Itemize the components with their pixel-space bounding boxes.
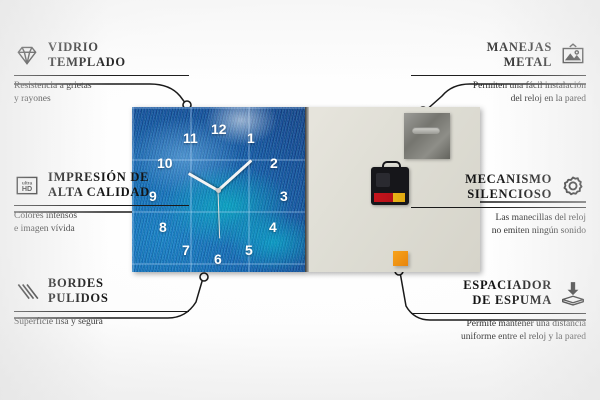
feature-divider: [411, 75, 586, 76]
feature-title: BORDESPULIDOS: [48, 276, 108, 306]
feature-divider: [14, 205, 189, 206]
feature-description: Colores intensose imagen vívida: [14, 210, 189, 236]
clock-numeral-4: 4: [269, 220, 277, 234]
clock-numeral-5: 5: [245, 243, 253, 257]
clock-numeral-10: 10: [157, 156, 173, 170]
clock-numeral-1: 1: [247, 131, 255, 145]
clock-numeral-2: 2: [270, 156, 278, 170]
feature-manejas-metal: MANEJASMETAL Permiten una fácil instalac…: [411, 40, 586, 106]
feature-description: Las manecillas del relojno emiten ningún…: [411, 212, 586, 238]
clock-numeral-3: 3: [280, 189, 288, 203]
mechanism-hook: [382, 161, 401, 171]
feature-espaciador-espuma: ESPACIADORDE ESPUMA Permite mantener una…: [411, 278, 586, 344]
hanger-slot: [412, 127, 440, 134]
feature-title: ESPACIADORDE ESPUMA: [463, 278, 552, 308]
feature-divider: [14, 75, 189, 76]
feature-title: VIDRIOTEMPLADO: [48, 40, 126, 70]
feature-bordes-pulidos: BORDESPULIDOS Superficie lisa y segura: [14, 276, 189, 329]
mechanism-label: [374, 193, 405, 202]
feature-description: Resistencia a grietasy rayones: [14, 80, 189, 106]
clock-numeral-11: 11: [183, 131, 198, 145]
feature-divider: [411, 313, 586, 314]
feature-divider: [411, 207, 586, 208]
feature-description: Superficie lisa y segura: [14, 316, 189, 329]
clock-mechanism-part: [371, 167, 409, 205]
feature-title: IMPRESIÓN DEALTA CALIDAD: [48, 170, 150, 200]
foam-spacer-part: [393, 251, 408, 266]
clock-numeral-6: 6: [214, 252, 222, 266]
metal-hanger-part: [404, 113, 450, 159]
feature-description: Permite mantener una distanciauniforme e…: [411, 318, 586, 344]
feature-mecanismo-silencioso: MECANISMOSILENCIOSO Las manecillas del r…: [411, 172, 586, 238]
clock-numeral-12: 12: [211, 122, 227, 136]
clock-numeral-7: 7: [182, 243, 190, 257]
clock-center-pin: [216, 188, 221, 193]
feature-title: MANEJASMETAL: [487, 40, 552, 70]
feature-vidrio-templado: VIDRIOTEMPLADO Resistencia a grietasy ra…: [14, 40, 189, 106]
polished-edges-icon: [14, 278, 40, 304]
feature-divider: [14, 311, 189, 312]
feature-description: Permiten una fácil instalacióndel reloj …: [411, 80, 586, 106]
feature-impresion-alta-calidad: ultra HD IMPRESIÓN DEALTA CALIDAD Colore…: [14, 170, 189, 236]
foam-spacer-icon: [560, 280, 586, 306]
feature-title: MECANISMOSILENCIOSO: [465, 172, 552, 202]
picture-frame-icon: [560, 42, 586, 68]
mechanism-dial: [376, 173, 390, 187]
ultra-hd-icon: ultra HD: [14, 172, 40, 198]
product-infographic: 12 1 2 3 4 5 6 7 8 9 10 11: [0, 0, 600, 400]
diamond-icon: [14, 42, 40, 68]
panel-seam: [305, 107, 309, 272]
svg-text:HD: HD: [22, 185, 32, 193]
gear-icon: [560, 174, 586, 200]
